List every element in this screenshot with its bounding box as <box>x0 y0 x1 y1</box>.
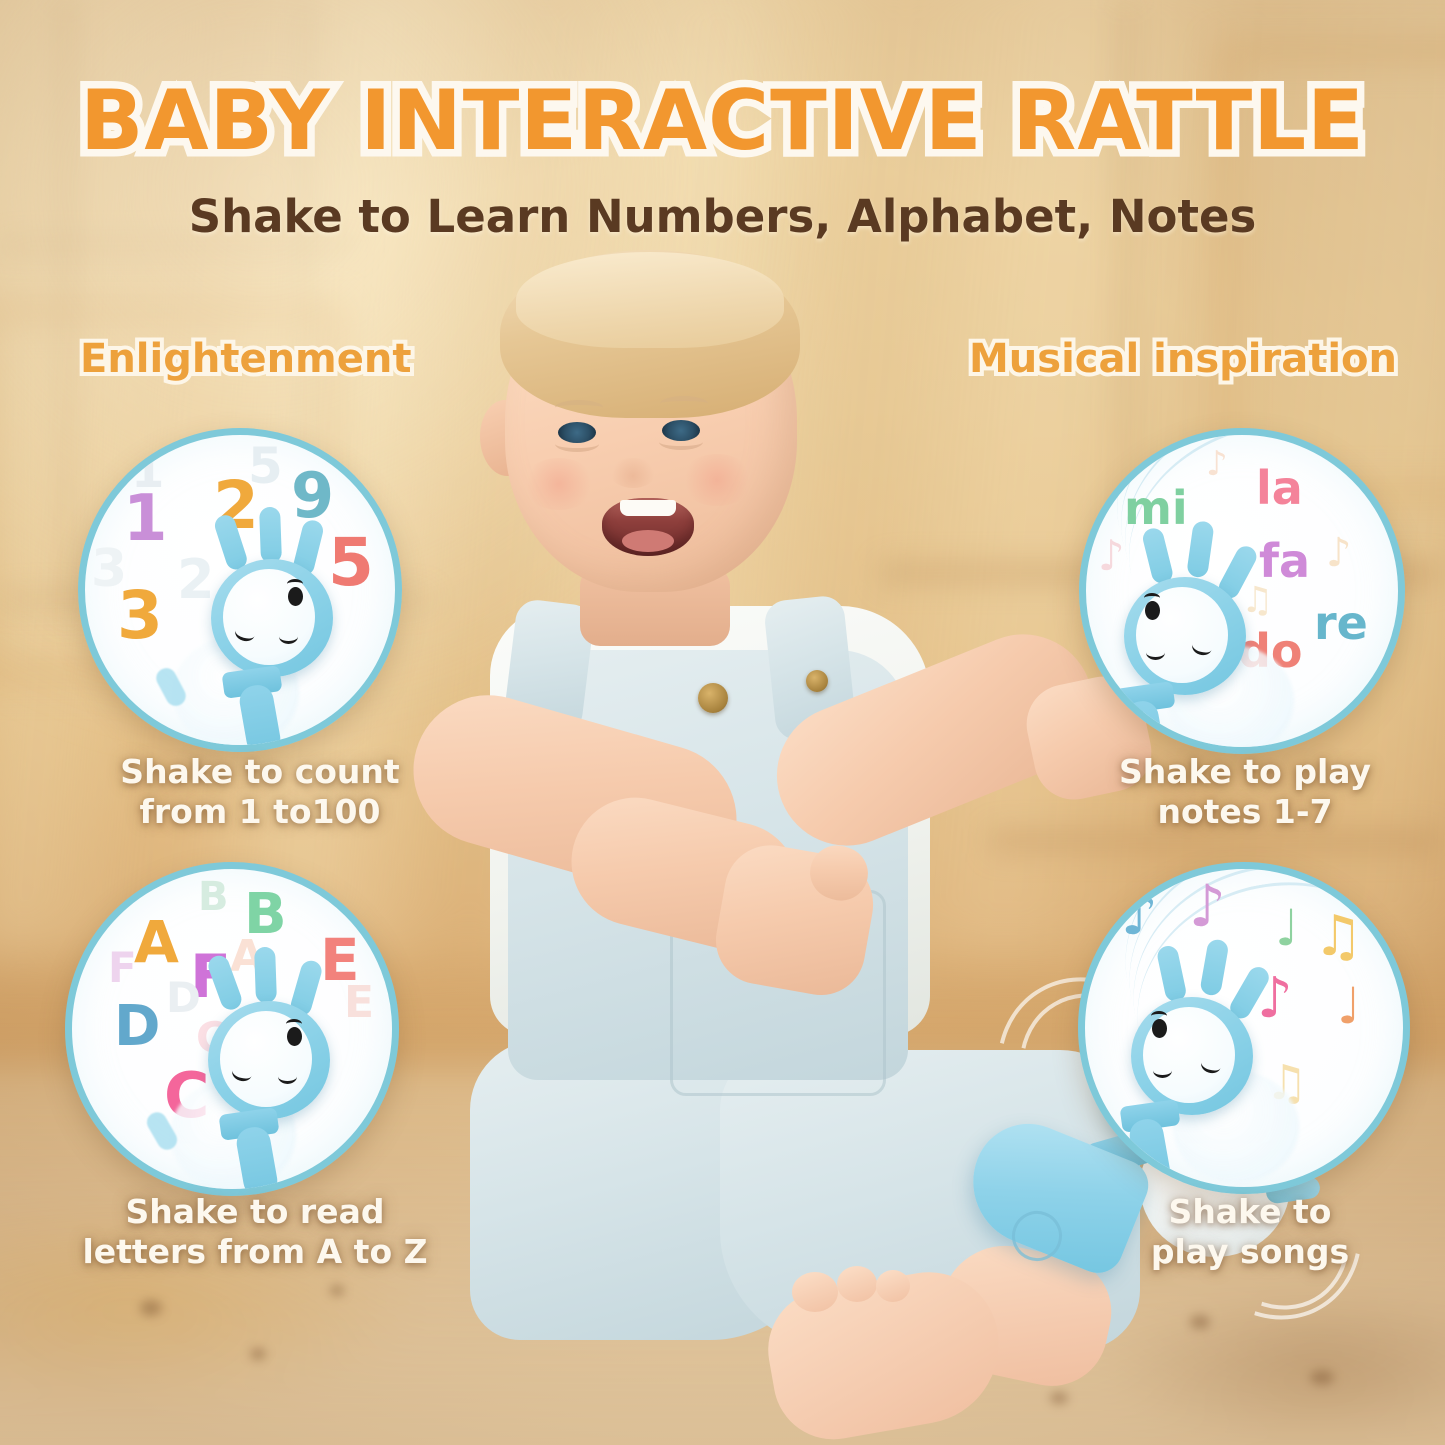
baby-eyelid-right <box>659 434 703 450</box>
baby-overall-button <box>698 683 728 713</box>
mini-bunny-toy <box>1115 955 1275 1170</box>
mini-bunny-eye <box>288 587 303 606</box>
caption-count: Shake to count from 1 to100 <box>60 752 460 833</box>
page-subtitle: Shake to Learn Numbers, Alphabet, Notes <box>0 190 1445 243</box>
baby-eyebrow-left <box>555 400 603 415</box>
mini-bunny-eye <box>1145 601 1160 620</box>
caption-notes: Shake to play notes 1-7 <box>1050 752 1440 833</box>
inset-glyph: mi <box>1124 485 1188 531</box>
mini-bunny-smile <box>1146 645 1165 660</box>
mini-bunny-ear <box>212 512 249 572</box>
feature-circle-songs[interactable]: ♪♪♩♫♪♩♫ <box>1078 862 1410 1194</box>
mini-bunny-eye <box>1152 1019 1167 1038</box>
feature-circle-letters[interactable]: BBAEFFADEDCC <box>65 862 399 1196</box>
mini-bunny-ear <box>259 507 282 564</box>
baby-toe <box>792 1272 838 1312</box>
mini-bunny-smile <box>279 629 298 644</box>
mini-bunny-ear <box>1141 526 1175 585</box>
inset-glyph: ♩ <box>1337 981 1361 1031</box>
inset-glyph: A <box>134 913 179 971</box>
baby-toe <box>837 1266 877 1302</box>
mini-bunny-toy <box>195 517 355 732</box>
baby-cheek-right <box>680 454 754 506</box>
baby-eyebrow-right <box>660 396 708 411</box>
mini-bunny-smile <box>1153 1063 1172 1078</box>
mini-bunny-ear <box>254 947 277 1004</box>
baby-overall-button <box>806 670 828 692</box>
inset-glyph: ♪ <box>1121 885 1158 943</box>
baby-cheek-left <box>522 458 596 510</box>
inset-glyph: ♩ <box>1275 903 1299 953</box>
mini-bunny-toy <box>192 959 352 1174</box>
caption-songs: Shake to play songs <box>1070 1192 1430 1273</box>
baby-eyelid-left <box>555 436 599 452</box>
inset-glyph: F <box>108 947 137 989</box>
baby-toe <box>876 1270 910 1302</box>
baby-nose <box>610 458 656 488</box>
mini-bunny-eye <box>287 1027 302 1046</box>
feature-circle-count[interactable]: 151293235 <box>78 428 402 752</box>
caption-letters: Shake to read letters from A to Z <box>50 1192 460 1273</box>
inset-glyph: ♪ <box>1326 533 1352 573</box>
inset-glyph: D <box>114 999 160 1055</box>
inset-glyph: 3 <box>117 583 163 649</box>
baby-tongue <box>622 530 674 552</box>
mini-bunny-toy <box>1108 535 1268 750</box>
baby-hair-highlight <box>516 252 784 348</box>
inset-glyph: B <box>198 877 229 917</box>
mini-bunny-smile <box>278 1069 297 1084</box>
inset-glyph: 1 <box>123 487 168 551</box>
inset-glyph: la <box>1256 465 1303 511</box>
inset-glyph: re <box>1314 600 1368 646</box>
inset-glyph: ♪ <box>1189 877 1226 935</box>
feature-circle-notes[interactable]: milafaredo♪♪♪♫ <box>1079 428 1405 754</box>
baby-teeth <box>620 500 676 516</box>
inset-glyph: ♫ <box>1313 909 1363 965</box>
section-label-musical-inspiration: Musical inspiration <box>969 336 1397 382</box>
page-title: BABY INTERACTIVE RATTLE <box>0 72 1445 169</box>
product-marketing-image: ♪ ♪ ♪ ♫ BABY INTERACTIVE RATTLE Shake to… <box>0 0 1445 1445</box>
section-label-enlightenment: Enlightenment <box>80 336 411 382</box>
inset-glyph: ♪ <box>1206 447 1228 481</box>
mini-bunny-ear <box>205 953 244 1013</box>
